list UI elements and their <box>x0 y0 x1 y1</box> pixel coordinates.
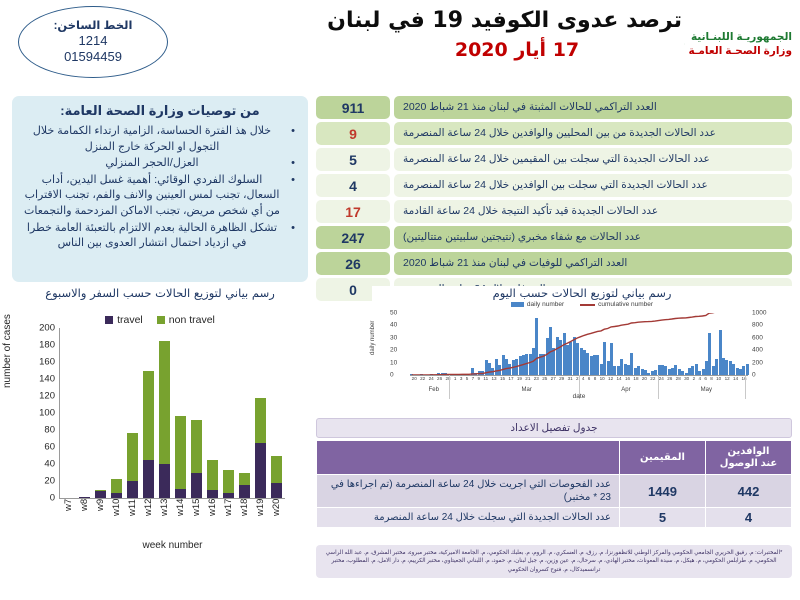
bar-segment-travel <box>207 490 218 498</box>
y-tick-label: 120 <box>39 391 55 402</box>
y-tick-label: 60 <box>44 442 55 453</box>
bar-w18 <box>239 328 250 498</box>
cell-label: عدد الحالات الجديدة التي سجلت خلال 24 سا… <box>317 508 620 528</box>
bar-w12 <box>143 328 154 498</box>
chart-title: رسم بياني لتوزيع الحالات حسب اليوم <box>372 286 792 300</box>
chart-plot-area: daily number cumulative number 010203040… <box>372 309 792 401</box>
table-row: العدد التراكمي للوفيات في لبنان منذ 21 ش… <box>316 252 792 275</box>
legend-item-cumulative: cumulative number <box>580 301 653 308</box>
y-axis-left-label: daily number <box>370 321 376 355</box>
bar-w13 <box>159 328 170 498</box>
y-tick-left: 0 <box>390 372 394 379</box>
legend-label: non travel <box>169 314 215 326</box>
x-tick-label: w14 <box>175 499 186 539</box>
x-tick-label: w9 <box>95 499 106 539</box>
x-axis-label: date <box>410 393 748 400</box>
stat-label: العدد التراكمي للوفيات في لبنان منذ 21 ش… <box>394 252 792 275</box>
table-row: عدد الحالات الجديدة قيد تأكيد النتيجة خل… <box>316 200 792 223</box>
y-tick-left: 30 <box>390 334 397 341</box>
legend-item-daily: daily number <box>511 301 564 308</box>
y-tick-right: 0 <box>752 372 756 379</box>
bar-segment-non-travel <box>239 473 250 486</box>
bar-segment-travel <box>159 464 170 498</box>
bar-segment-travel <box>191 473 202 498</box>
bar-segment-non-travel <box>159 341 170 464</box>
chart-legend: travel non travel <box>12 314 308 326</box>
stat-label: عدد الحالات الجديدة التي سجلت بين المقيم… <box>394 148 792 171</box>
daily-cases-chart: رسم بياني لتوزيع الحالات حسب اليوم daily… <box>372 286 792 410</box>
x-tick-label: w15 <box>191 499 202 539</box>
stat-label: عدد الحالات الجديدة التي سجلت بين الوافد… <box>394 174 792 197</box>
bar-w14 <box>175 328 186 498</box>
bar-w8 <box>79 328 90 498</box>
x-tick-label: w8 <box>79 499 90 539</box>
bar-w10 <box>111 328 122 498</box>
x-tick-label: w18 <box>239 499 250 539</box>
table-row: العدد التراكمي للحالات المثبتة في لبنان … <box>316 96 792 119</box>
hotline-label: الخط الساخن: <box>54 19 133 33</box>
page-title: ترصد عدوى الكوفيد 19 في لبنان <box>352 8 682 33</box>
y-tick-label: 80 <box>44 425 55 436</box>
legend-label: cumulative number <box>598 301 653 308</box>
column-header-description <box>317 441 620 475</box>
x-tick-label: w17 <box>223 499 234 539</box>
laboratories-footnote: *المختبرات: م. رفيق الحريري الجامعي الحك… <box>316 545 792 578</box>
recommendations-title: من توصيات وزارة الصحة العامة: <box>22 103 298 119</box>
bar-segment-non-travel <box>143 371 154 459</box>
legend-swatch-icon <box>157 316 165 324</box>
bar-w19 <box>255 328 266 498</box>
detail-table-title: جدول تفصيل الاعداد <box>316 418 792 438</box>
bar-w7 <box>63 328 74 498</box>
table-row: عدد الحالات مع شفاء مخبري (نتيجتين سلبيت… <box>316 226 792 249</box>
ministry-name: وزارة الصحـة العامـة <box>688 44 792 58</box>
y-tick-left: 20 <box>390 347 397 354</box>
x-tick-label: w12 <box>143 499 154 539</box>
list-item: السلوك الفردي الوقائي: أهمية غسل اليدين،… <box>22 173 282 220</box>
statistics-table: العدد التراكمي للحالات المثبتة في لبنان … <box>316 96 792 304</box>
x-axis-label: week number <box>60 540 285 551</box>
bar-segment-travel <box>239 485 250 498</box>
detail-table: الوافدين عند الوصول المقيمين 442 1449 عد… <box>316 440 792 528</box>
column-header-arrivals: الوافدين عند الوصول <box>706 441 792 475</box>
x-tick-label: w19 <box>255 499 266 539</box>
stat-value: 26 <box>316 252 390 275</box>
stat-value: 4 <box>316 174 390 197</box>
bar-segment-non-travel <box>111 479 122 493</box>
bar-segment-travel <box>255 443 266 498</box>
x-tick-label: w10 <box>111 499 122 539</box>
hotline-number-1: 1214 <box>79 33 108 49</box>
bar-w17 <box>223 328 234 498</box>
cell-arrivals: 442 <box>706 475 792 508</box>
y-axis-label: number of cases <box>2 314 13 388</box>
legend-swatch-icon <box>511 302 524 307</box>
bar-w11 <box>127 328 138 498</box>
bar-w9 <box>95 328 106 498</box>
x-tick-label: w7 <box>63 499 74 539</box>
y-tick-label: 140 <box>39 374 55 385</box>
x-tick-label: w20 <box>271 499 282 539</box>
bar-segment-travel <box>175 489 186 498</box>
cell-label: عدد الفحوصات التي اجريت خلال 24 ساعة الم… <box>317 475 620 508</box>
republic-name: الجمهوريـة اللبنـانية <box>688 30 792 44</box>
column-header-arrivals-line2: عند الوصول <box>707 458 790 470</box>
list-item: تشكل الظاهرة الحالية بعدم الالتزام بالتع… <box>22 221 282 252</box>
cell-residents: 5 <box>620 508 706 528</box>
x-tick-label: w13 <box>159 499 170 539</box>
bar-segment-travel <box>111 493 122 498</box>
page-header: الخط الساخن: 1214 01594459 ترصد عدوى الك… <box>0 0 800 92</box>
table-row: 4 5 عدد الحالات الجديدة التي سجلت خلال 2… <box>317 508 792 528</box>
bar-segment-non-travel <box>255 398 266 443</box>
stat-label: عدد الحالات الجديدة من بين المحليين والو… <box>394 122 792 145</box>
list-item: خلال هذ الفترة الحساسة، الزامية ارتداء ا… <box>22 124 282 155</box>
legend-swatch-icon <box>105 316 113 324</box>
bar-segment-non-travel <box>223 470 234 493</box>
ministry-logo-text: الجمهوريـة اللبنـانية وزارة الصحـة العام… <box>688 30 792 58</box>
bar-segment-non-travel <box>175 416 186 488</box>
column-header-residents: المقيمين <box>620 441 706 475</box>
y-tick-right: 600 <box>752 334 763 341</box>
y-tick-right: 800 <box>752 322 763 329</box>
y-tick-label: 20 <box>44 476 55 487</box>
table-row: عدد الحالات الجديدة من بين المحليين والو… <box>316 122 792 145</box>
y-tick-label: 40 <box>44 459 55 470</box>
y-axis-ticks: 020406080100120140160180200 <box>32 328 58 498</box>
cumulative-line-series <box>410 313 748 375</box>
bar-segment-non-travel <box>191 420 202 474</box>
bar-segment-travel <box>271 483 282 498</box>
ministry-logo: الجمهوريـة اللبنـانية وزارة الصحـة العام… <box>684 6 792 82</box>
stat-value: 5 <box>316 148 390 171</box>
stat-label: العدد التراكمي للحالات المثبتة في لبنان … <box>394 96 792 119</box>
list-item: العزل/الحجر المنزلي <box>22 156 282 172</box>
chart-plot-area: number of cases 020406080100120140160180… <box>12 328 308 543</box>
recommendations-panel: من توصيات وزارة الصحة العامة: خلال هذ ال… <box>12 96 308 282</box>
table-row: عدد الحالات الجديدة التي سجلت بين الوافد… <box>316 174 792 197</box>
report-date: 17 أيار 2020 <box>352 39 682 61</box>
column-header-arrivals-line1: الوافدين <box>707 446 790 458</box>
stat-value: 911 <box>316 96 390 119</box>
detail-table-panel: جدول تفصيل الاعداد الوافدين عند الوصول ا… <box>316 418 792 528</box>
bar-segment-travel <box>79 497 90 498</box>
y-tick-label: 0 <box>50 493 55 504</box>
bar-segment-non-travel <box>207 460 218 491</box>
stat-value: 247 <box>316 226 390 249</box>
legend-item-non-travel: non travel <box>157 314 215 326</box>
x-tick-label: w16 <box>207 499 218 539</box>
weekly-travel-chart: رسم بياني لتوزيع الحالات حسب السفر والاس… <box>12 286 308 586</box>
y-tick-label: 180 <box>39 340 55 351</box>
y-tick-right: 400 <box>752 347 763 354</box>
y-tick-right: 1000 <box>752 310 766 317</box>
y-tick-label: 100 <box>39 408 55 419</box>
bar-segment-travel <box>223 493 234 498</box>
bar-w20 <box>271 328 282 498</box>
chart-title: رسم بياني لتوزيع الحالات حسب السفر والاس… <box>12 286 308 300</box>
legend-line-icon <box>580 304 595 306</box>
title-block: ترصد عدوى الكوفيد 19 في لبنان 17 أيار 20… <box>352 8 682 61</box>
bar-series <box>60 328 285 498</box>
legend-item-travel: travel <box>105 314 143 326</box>
bar-segment-non-travel <box>127 433 138 481</box>
bar-w16 <box>207 328 218 498</box>
bar-segment-travel <box>127 481 138 498</box>
cell-residents: 1449 <box>620 475 706 508</box>
hotline-badge: الخط الساخن: 1214 01594459 <box>18 6 168 78</box>
stat-label: عدد الحالات مع شفاء مخبري (نتيجتين سلبيت… <box>394 226 792 249</box>
chart-legend: daily number cumulative number <box>372 301 792 308</box>
table-header-row: الوافدين عند الوصول المقيمين <box>317 441 792 475</box>
y-tick-label: 160 <box>39 357 55 368</box>
x-tick-label: w11 <box>127 499 138 539</box>
stat-value: 9 <box>316 122 390 145</box>
bar-segment-travel <box>143 460 154 498</box>
y-tick-left: 10 <box>390 359 397 366</box>
recommendations-list: خلال هذ الفترة الحساسة، الزامية ارتداء ا… <box>22 124 298 252</box>
stat-label: عدد الحالات الجديدة قيد تأكيد النتيجة خل… <box>394 200 792 223</box>
legend-label: travel <box>117 314 143 326</box>
hotline-number-2: 01594459 <box>64 49 122 65</box>
stat-value: 17 <box>316 200 390 223</box>
bar-segment-non-travel <box>271 456 282 483</box>
legend-label: daily number <box>527 301 564 308</box>
chart-frame <box>410 313 748 375</box>
y-tick-left: 40 <box>390 322 397 329</box>
table-row: 442 1449 عدد الفحوصات التي اجريت خلال 24… <box>317 475 792 508</box>
y-tick-left: 50 <box>390 310 397 317</box>
x-axis-ticks: w7w8w9w10w11w12w13w14w15w16w17w18w19w20 <box>60 499 285 539</box>
y-tick-label: 200 <box>39 323 55 334</box>
bar-segment-travel <box>95 491 106 498</box>
y-tick-right: 200 <box>752 359 763 366</box>
cell-arrivals: 4 <box>706 508 792 528</box>
bar-w15 <box>191 328 202 498</box>
table-row: عدد الحالات الجديدة التي سجلت بين المقيم… <box>316 148 792 171</box>
